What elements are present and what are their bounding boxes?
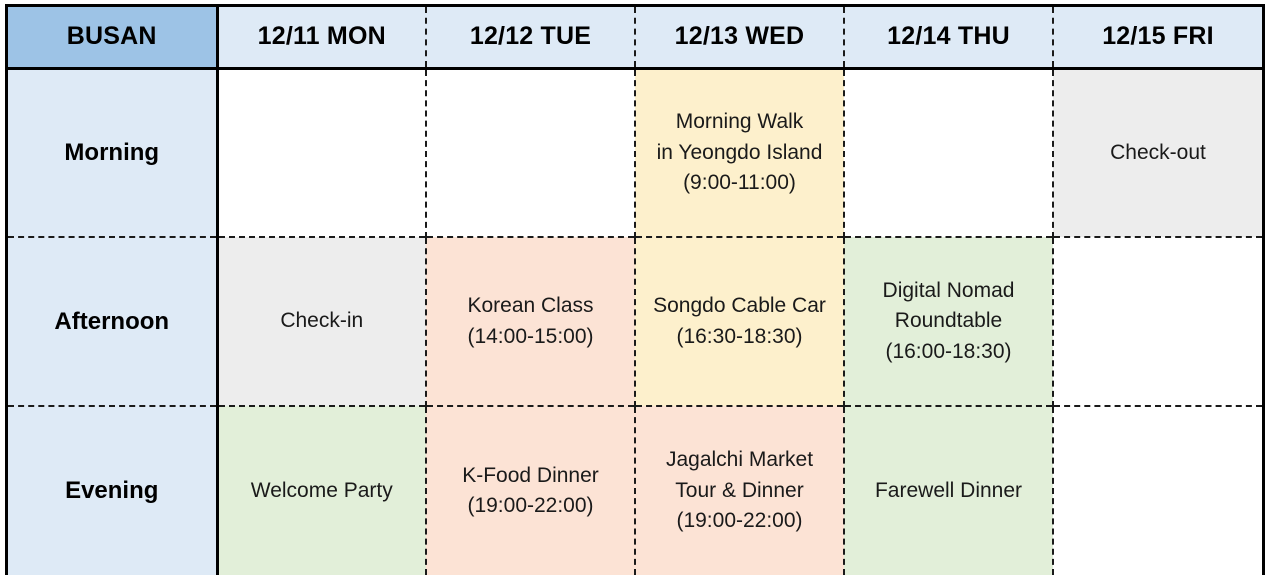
schedule-cell-line: (14:00-15:00) xyxy=(433,322,628,352)
schedule-cell-line: Farewell Dinner xyxy=(851,476,1046,506)
schedule-cell-morning-thu[interactable] xyxy=(844,68,1053,237)
schedule-cell-line: in Yeongdo Island xyxy=(642,138,837,168)
day-header-tue: 12/12 TUE xyxy=(426,7,635,68)
schedule-cell-evening-wed[interactable]: Jagalchi MarketTour & Dinner(19:00-22:00… xyxy=(635,406,844,575)
day-header-wed: 12/13 WED xyxy=(635,7,844,68)
schedule-cell-morning-fri[interactable]: Check-out xyxy=(1053,68,1262,237)
schedule-cell-line: Jagalchi Market xyxy=(642,445,837,475)
header-row: BUSAN 12/11 MON 12/12 TUE 12/13 WED 12/1… xyxy=(8,7,1262,68)
schedule-cell-morning-mon[interactable] xyxy=(217,68,426,237)
schedule-cell-line: K-Food Dinner xyxy=(433,461,628,491)
corner-header-busan: BUSAN xyxy=(8,7,217,68)
table-row: AfternoonCheck-inKorean Class(14:00-15:0… xyxy=(8,237,1262,406)
schedule-cell-line: Roundtable xyxy=(851,306,1046,336)
schedule-cell-line: Korean Class xyxy=(433,291,628,321)
schedule-cell-line: (16:30-18:30) xyxy=(642,322,837,352)
weekly-schedule-table: BUSAN 12/11 MON 12/12 TUE 12/13 WED 12/1… xyxy=(8,7,1262,575)
schedule-cell-afternoon-mon[interactable]: Check-in xyxy=(217,237,426,406)
schedule-cell-evening-thu[interactable]: Farewell Dinner xyxy=(844,406,1053,575)
schedule-cell-line: (19:00-22:00) xyxy=(642,506,837,536)
schedule-cell-morning-tue[interactable] xyxy=(426,68,635,237)
table-row: MorningMorning Walkin Yeongdo Island(9:0… xyxy=(8,68,1262,237)
schedule-cell-afternoon-thu[interactable]: Digital NomadRoundtable(16:00-18:30) xyxy=(844,237,1053,406)
row-label-morning: Morning xyxy=(8,68,217,237)
day-header-mon: 12/11 MON xyxy=(217,7,426,68)
schedule-cell-line: Songdo Cable Car xyxy=(642,291,837,321)
table-row: EveningWelcome PartyK-Food Dinner(19:00-… xyxy=(8,406,1262,575)
schedule-cell-line: Welcome Party xyxy=(225,476,420,506)
schedule-cell-evening-mon[interactable]: Welcome Party xyxy=(217,406,426,575)
schedule-cell-evening-fri[interactable] xyxy=(1053,406,1262,575)
table-header: BUSAN 12/11 MON 12/12 TUE 12/13 WED 12/1… xyxy=(8,7,1262,68)
schedule-cell-line: Check-in xyxy=(225,306,420,336)
schedule-cell-line: Check-out xyxy=(1060,138,1256,168)
row-label-afternoon: Afternoon xyxy=(8,237,217,406)
schedule-cell-afternoon-fri[interactable] xyxy=(1053,237,1262,406)
schedule-cell-line: Tour & Dinner xyxy=(642,476,837,506)
row-label-evening: Evening xyxy=(8,406,217,575)
schedule-cell-line: (9:00-11:00) xyxy=(642,168,837,198)
schedule-cell-afternoon-wed[interactable]: Songdo Cable Car(16:30-18:30) xyxy=(635,237,844,406)
schedule-cell-line: Morning Walk xyxy=(642,107,837,137)
schedule-table-frame: BUSAN 12/11 MON 12/12 TUE 12/13 WED 12/1… xyxy=(5,4,1265,575)
day-header-thu: 12/14 THU xyxy=(844,7,1053,68)
schedule-cell-line: (19:00-22:00) xyxy=(433,491,628,521)
schedule-cell-evening-tue[interactable]: K-Food Dinner(19:00-22:00) xyxy=(426,406,635,575)
schedule-cell-afternoon-tue[interactable]: Korean Class(14:00-15:00) xyxy=(426,237,635,406)
day-header-fri: 12/15 FRI xyxy=(1053,7,1262,68)
schedule-cell-line: Digital Nomad xyxy=(851,276,1046,306)
table-body: MorningMorning Walkin Yeongdo Island(9:0… xyxy=(8,68,1262,575)
schedule-cell-morning-wed[interactable]: Morning Walkin Yeongdo Island(9:00-11:00… xyxy=(635,68,844,237)
schedule-cell-line: (16:00-18:30) xyxy=(851,337,1046,367)
